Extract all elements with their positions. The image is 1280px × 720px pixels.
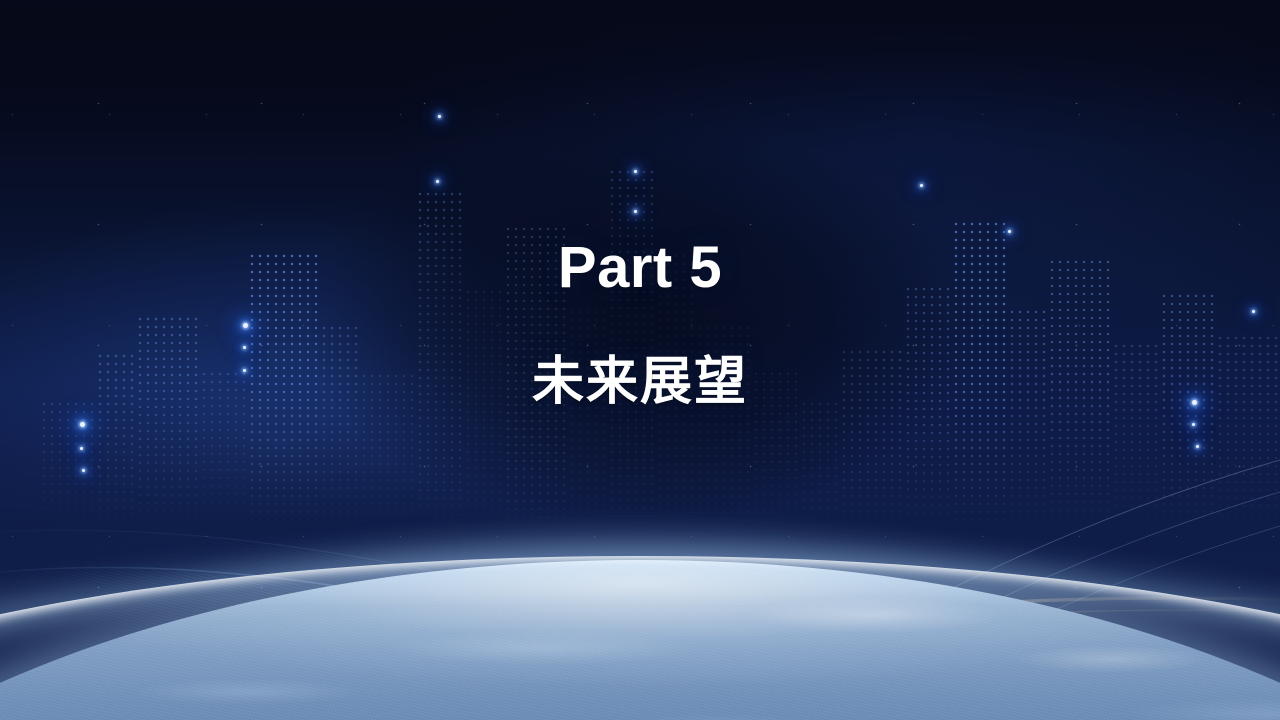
presentation-slide: Part 5 未来展望 [0, 0, 1280, 720]
part-label: Part 5 [0, 236, 1280, 300]
title-block: Part 5 未来展望 [0, 236, 1280, 411]
slide-subtitle: 未来展望 [0, 354, 1280, 411]
